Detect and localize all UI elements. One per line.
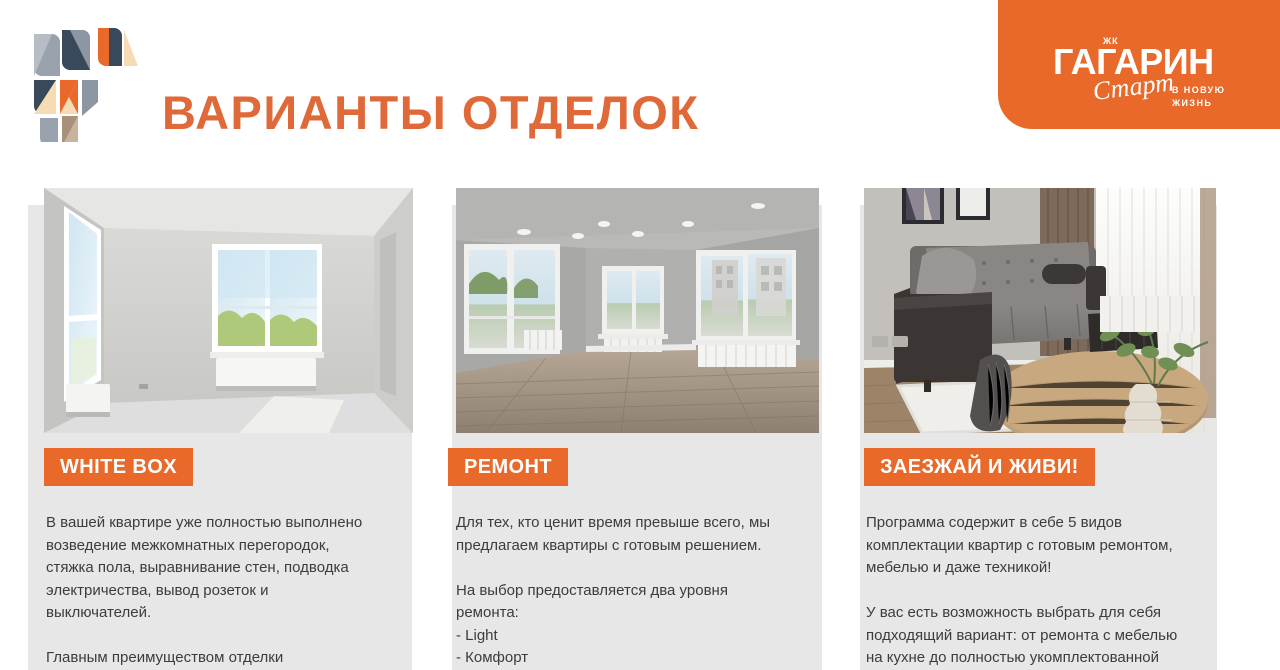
photo-furnished-living-room: [864, 188, 1216, 433]
chip-label-remont: РЕМОНТ: [448, 448, 568, 486]
brand-badge: ЖК ГАГАРИН Старт В НОВУЮ ЖИЗНЬ: [998, 0, 1280, 129]
photo-renovated-room: [456, 188, 819, 433]
brand-tagline: В НОВУЮ ЖИЗНЬ: [1172, 84, 1225, 110]
page-title: ВАРИАНТЫ ОТДЕЛОК: [162, 85, 700, 140]
chip-label-zaezzhay: ЗАЕЗЖАЙ И ЖИВИ!: [864, 448, 1095, 486]
body-text-zaezzhay: Программа содержит в себе 5 видов компле…: [866, 512, 1191, 670]
presentation-slide: ВАРИАНТЫ ОТДЕЛОК ЖК ГАГАРИН Старт В НОВУ…: [0, 0, 1280, 670]
brand-script: Старт: [1091, 69, 1175, 105]
body-text-remont: Для тех, кто ценит время превыше всего, …: [456, 512, 776, 670]
body-text-white-box: В вашей квартире уже полностью выполнено…: [46, 512, 376, 670]
gagarin-geometric-logo-icon: [14, 12, 144, 142]
chip-label-white-box: WHITE BOX: [44, 448, 193, 486]
photo-white-box-room: [44, 188, 413, 433]
